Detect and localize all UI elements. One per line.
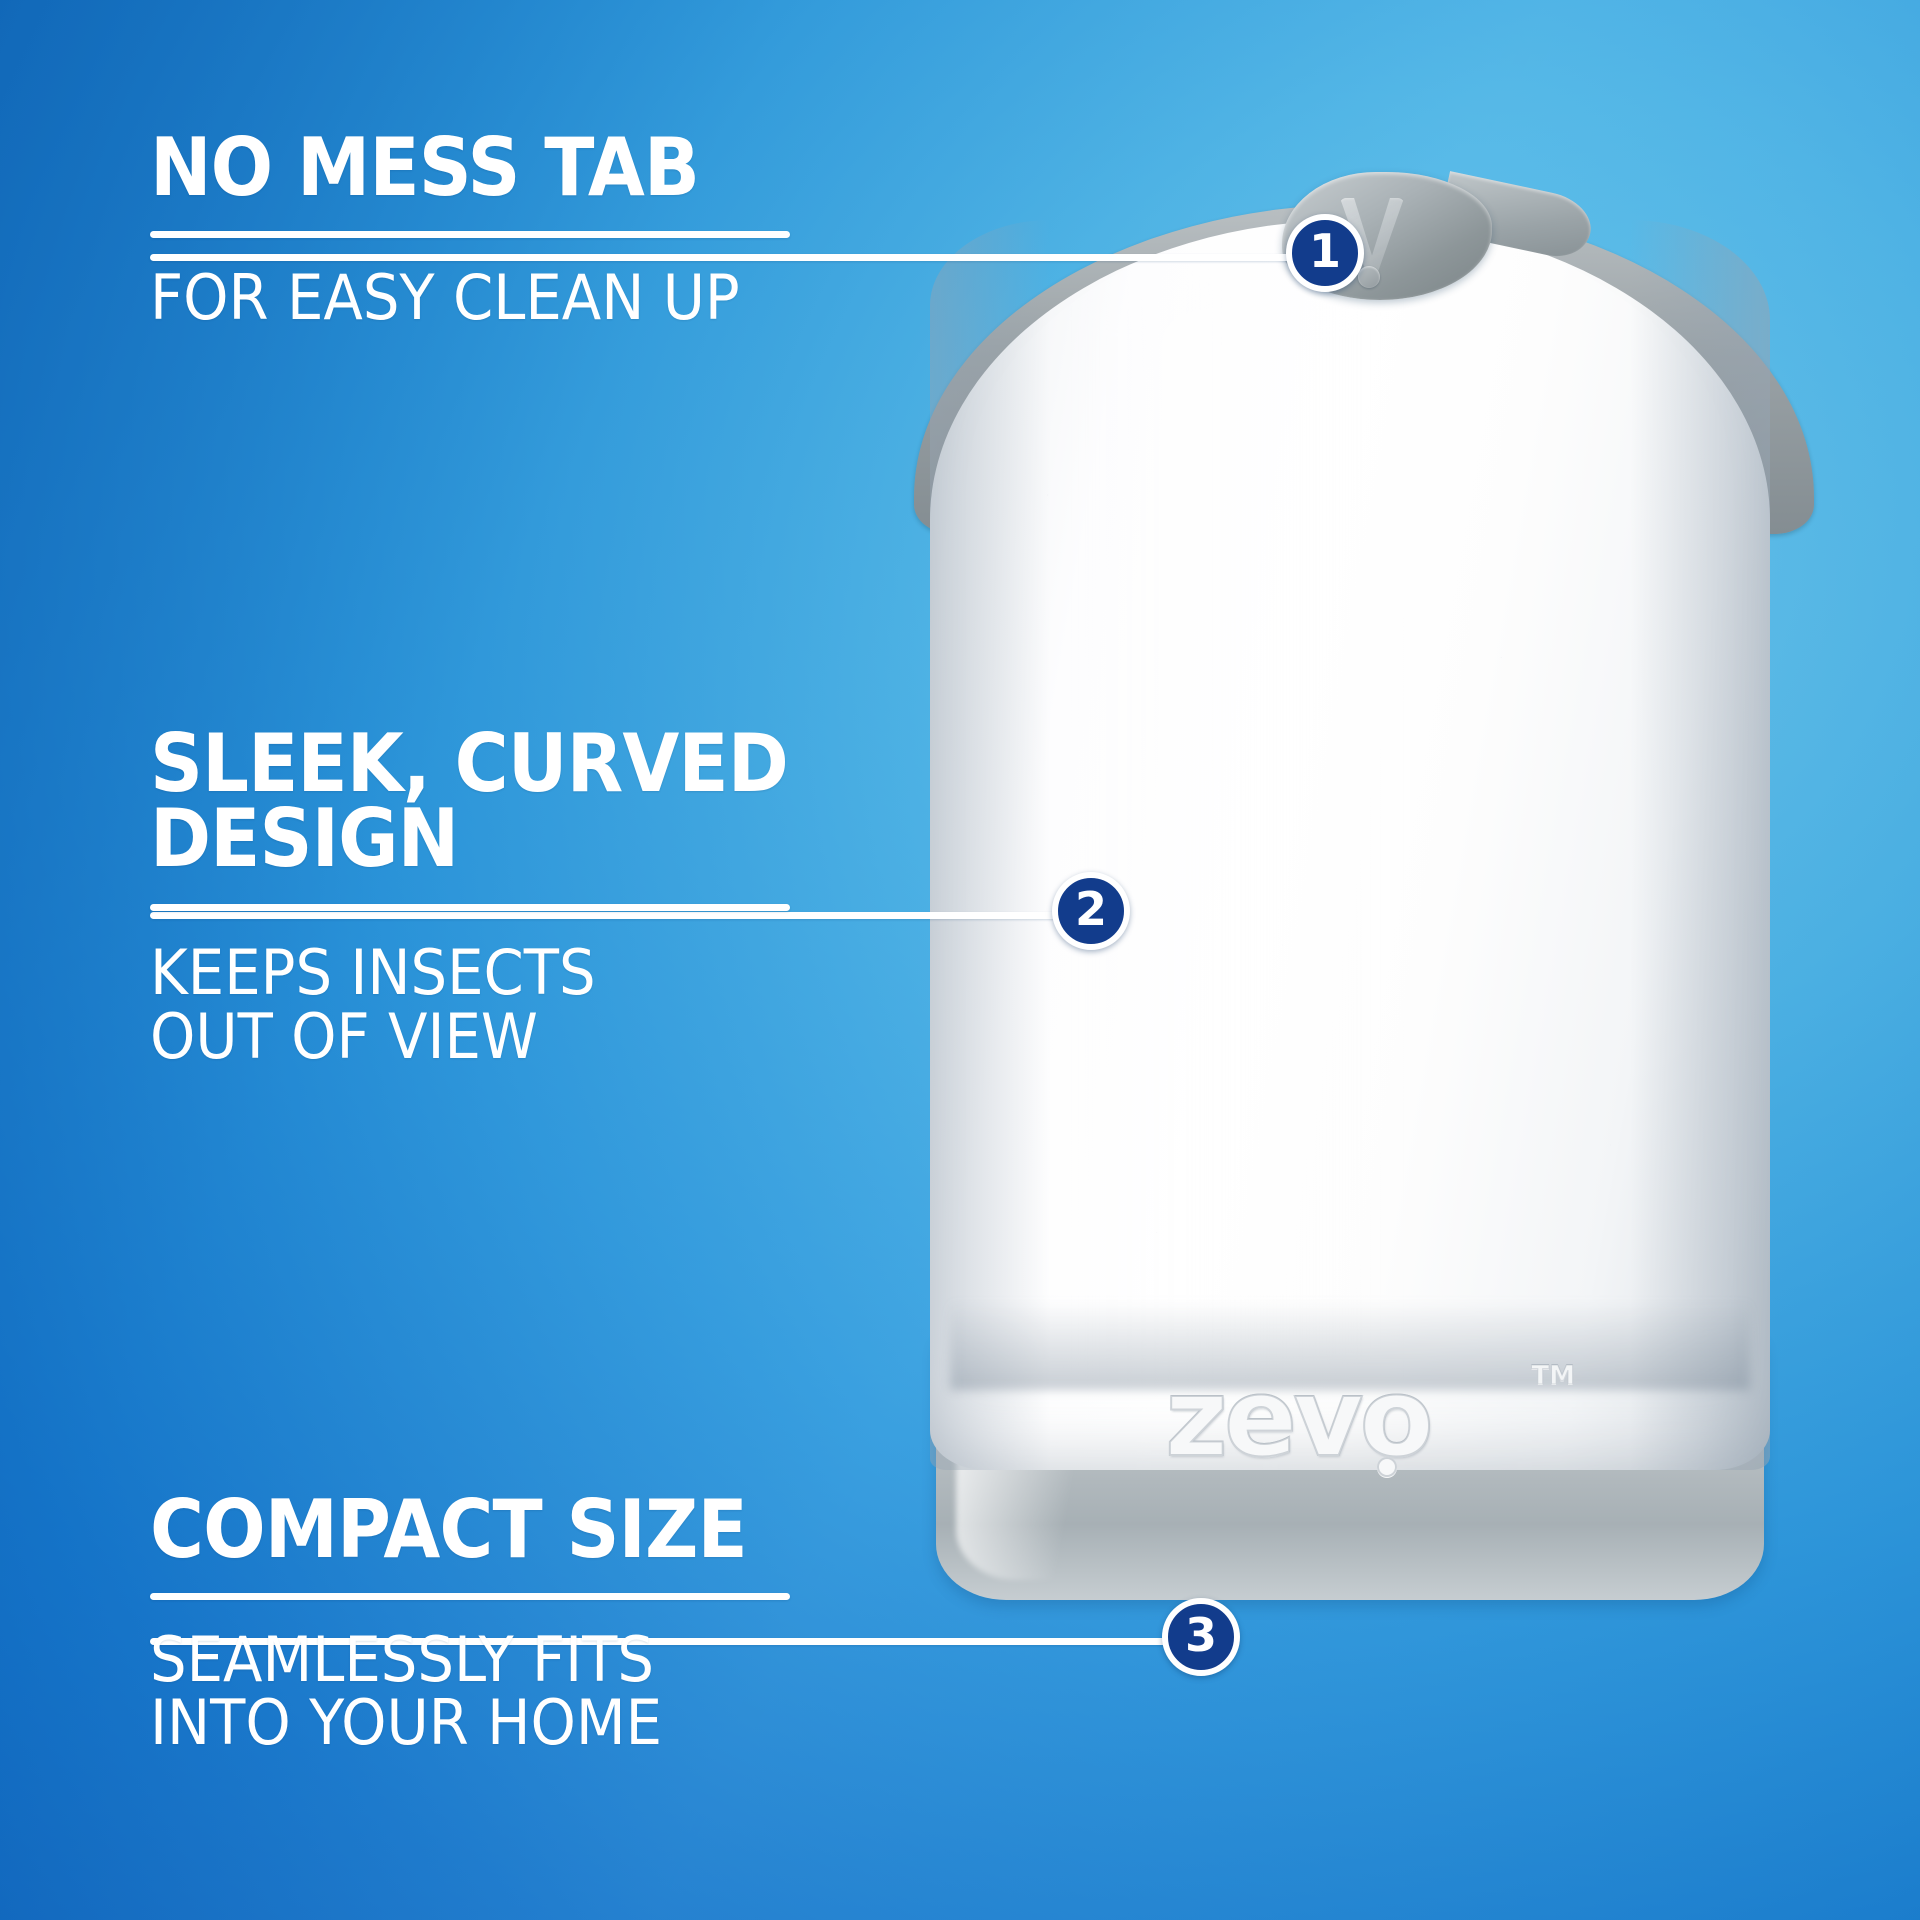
- product-brand-logo: zevo TM: [1165, 1365, 1545, 1485]
- callout-1-subtitle: FOR EASY CLEAN UP: [150, 266, 857, 329]
- callout-2-subtitle: KEEPS INSECTS OUT OF VIEW: [150, 941, 857, 1067]
- callout-badge-2-number: 2: [1075, 886, 1107, 932]
- callout-1: NO MESS TAB FOR EASY CLEAN UP: [150, 130, 910, 329]
- callout-2: SLEEK, CURVED DESIGN KEEPS INSECTS OUT O…: [150, 726, 910, 1068]
- callout-3-subtitle: SEAMLESSLY FITS INTO YOUR HOME: [150, 1628, 857, 1754]
- callout-badge-1[interactable]: 1: [1286, 214, 1364, 292]
- callout-2-title: SLEEK, CURVED DESIGN: [150, 726, 849, 876]
- callout-3: COMPACT SIZE SEAMLESSLY FITS INTO YOUR H…: [150, 1492, 910, 1755]
- callout-badge-3[interactable]: 3: [1162, 1598, 1240, 1676]
- zevo-v-dot-icon: [1358, 266, 1380, 288]
- callout-badge-2[interactable]: 2: [1052, 872, 1130, 950]
- product-body: [930, 220, 1770, 1470]
- brand-trademark: TM: [1531, 1361, 1575, 1391]
- callout-1-rule: [150, 231, 790, 238]
- callout-2-rule: [150, 904, 790, 911]
- callout-1-title: NO MESS TAB: [150, 130, 849, 205]
- callout-3-title: COMPACT SIZE: [150, 1492, 849, 1567]
- callout-badge-3-number: 3: [1185, 1612, 1217, 1658]
- callout-badge-1-number: 1: [1309, 228, 1341, 274]
- callout-3-rule: [150, 1593, 790, 1600]
- brand-logo-text: zevo: [1165, 1365, 1545, 1473]
- brand-logo-dot-icon: [1377, 1457, 1397, 1477]
